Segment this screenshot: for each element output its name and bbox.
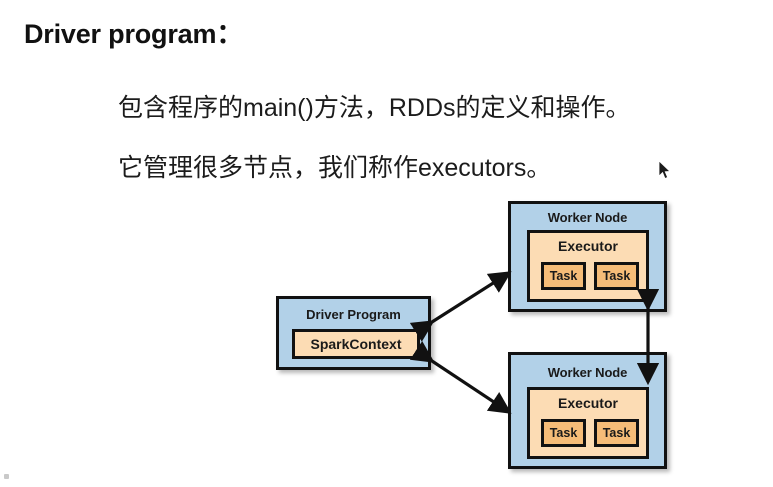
task-box: Task xyxy=(594,262,639,290)
driver-program-title: Driver Program xyxy=(279,307,428,322)
spark-context-box: SparkContext xyxy=(292,329,420,359)
arrow-driver-worker2 xyxy=(432,361,509,412)
task-box: Task xyxy=(541,262,586,290)
driver-program-box: Driver Program SparkContext xyxy=(276,296,431,370)
task-box: Task xyxy=(541,419,586,447)
executor-2: Executor Task Task xyxy=(527,387,649,459)
worker-node-1: Worker Node Executor Task Task xyxy=(508,201,667,312)
scroll-indicator xyxy=(4,474,9,479)
arrow-driver-worker1 xyxy=(432,273,509,322)
task-box: Task xyxy=(594,419,639,447)
worker-node-1-title: Worker Node xyxy=(511,210,664,225)
executor-1-title: Executor xyxy=(530,238,646,254)
executor-1: Executor Task Task xyxy=(527,230,649,302)
worker-node-2-title: Worker Node xyxy=(511,365,664,380)
slide-canvas: Driver program： 包含程序的main()方法，RDDs的定义和操作… xyxy=(0,0,773,487)
executor-2-title: Executor xyxy=(530,395,646,411)
spark-architecture-diagram: Worker Node Executor Task Task Worker No… xyxy=(0,0,773,487)
worker-node-2: Worker Node Executor Task Task xyxy=(508,352,667,469)
